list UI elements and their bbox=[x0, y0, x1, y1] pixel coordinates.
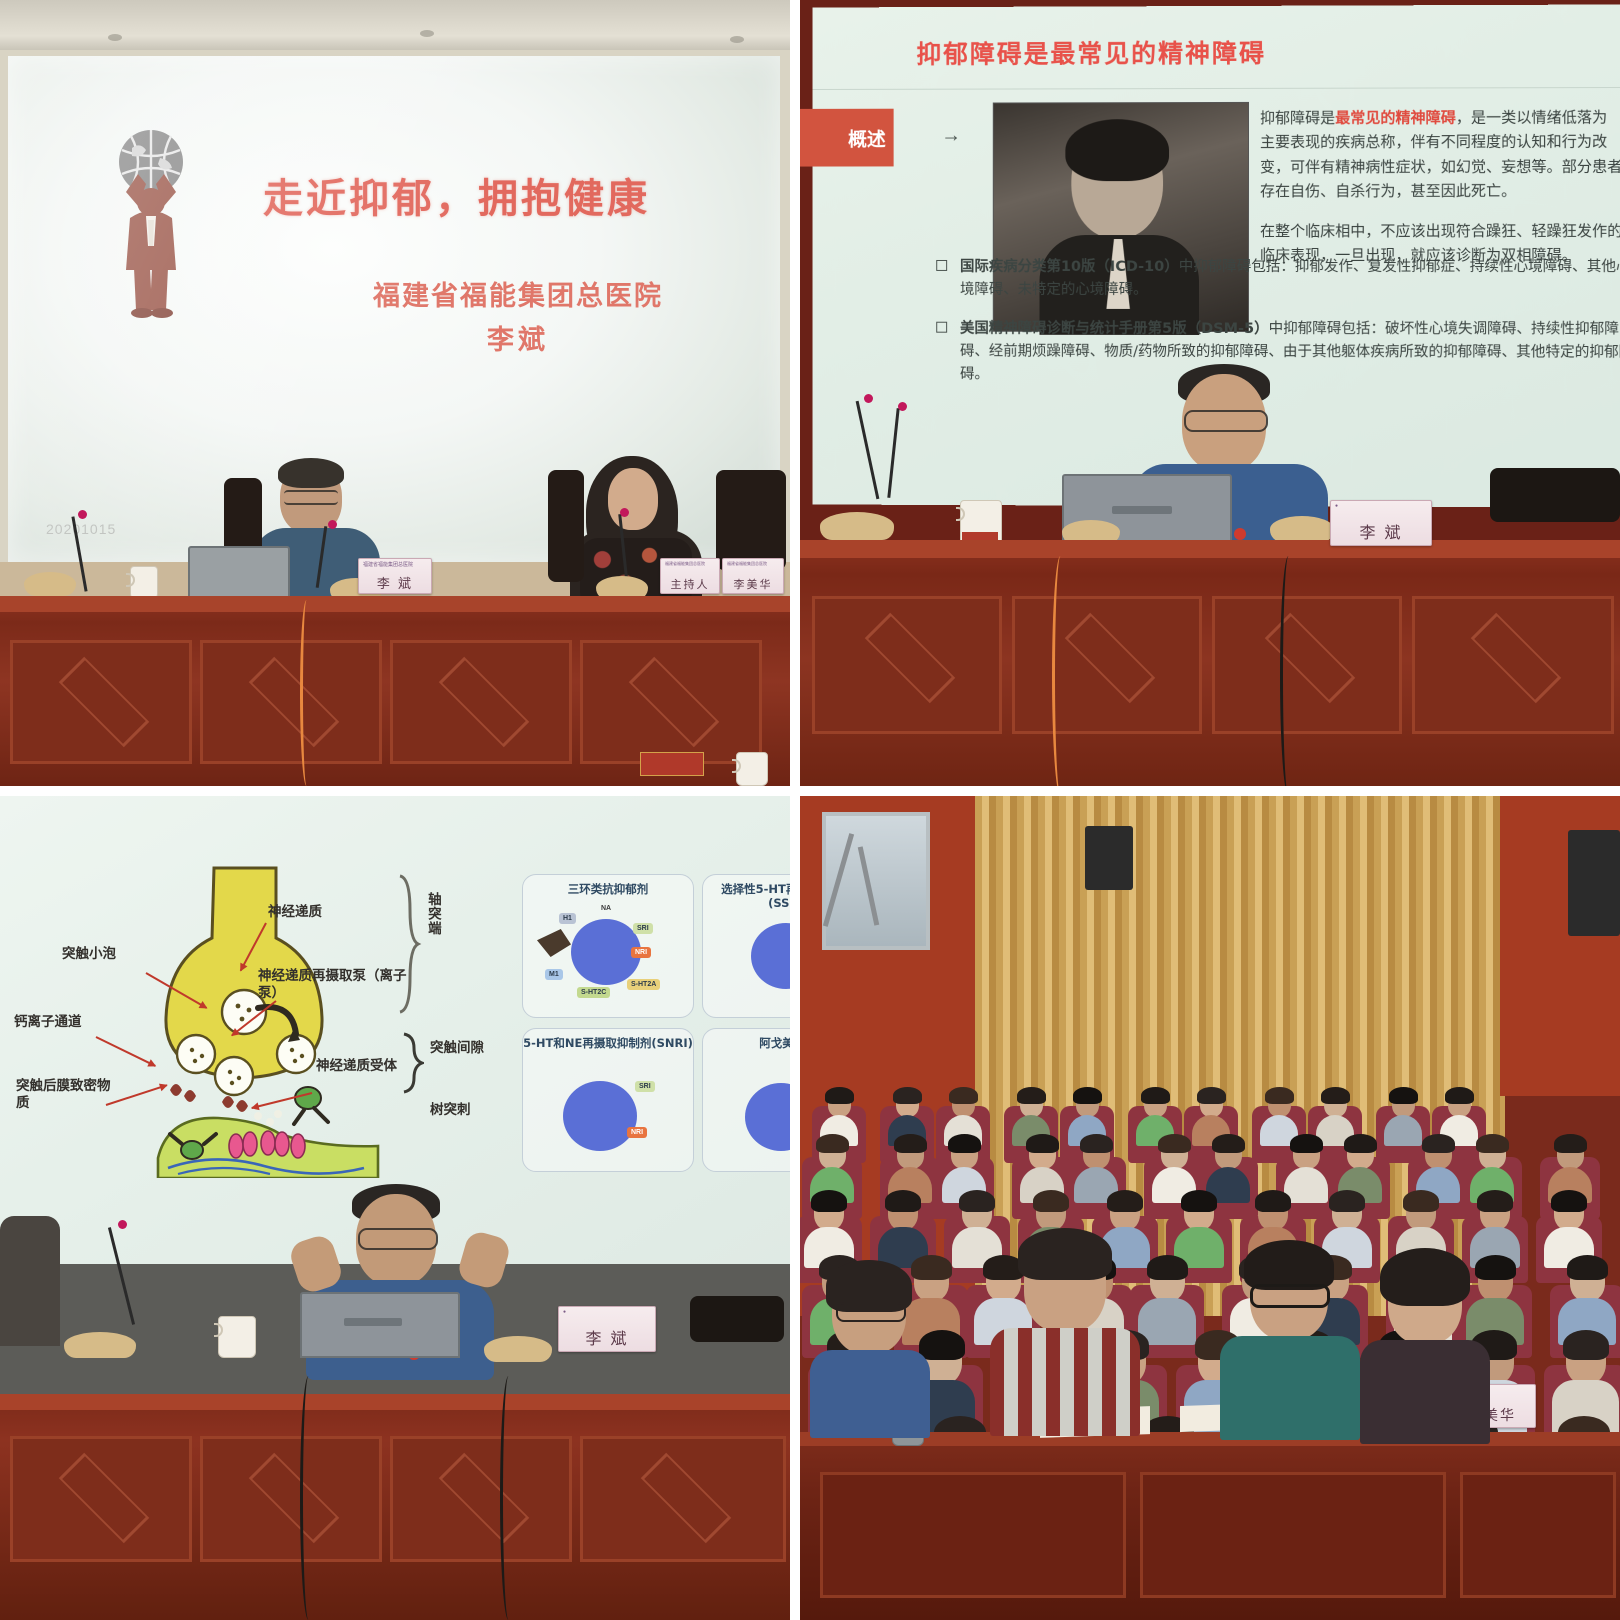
slide-title: 走近抑郁，拥抱健康 bbox=[263, 166, 773, 224]
microphone-base bbox=[24, 572, 76, 596]
microphone-head-icon bbox=[898, 402, 907, 411]
window bbox=[822, 812, 930, 950]
microphone-base bbox=[484, 1336, 552, 1362]
cable bbox=[300, 600, 313, 786]
nameplate: ● 李 斌 bbox=[558, 1306, 656, 1352]
drug-box-title: 5-HT和NE再摄取抑制剂(SNRI) bbox=[523, 1036, 693, 1050]
cable bbox=[300, 1376, 317, 1620]
nameplate-logo: ● bbox=[1335, 503, 1338, 509]
microphone-base bbox=[1270, 516, 1334, 542]
tag: S-HT2C bbox=[577, 987, 610, 998]
tag: NRI bbox=[627, 1127, 647, 1138]
tag: SRI bbox=[635, 1081, 655, 1092]
laptop-logo bbox=[344, 1318, 402, 1326]
nameplate-label: 李 斌 bbox=[559, 1325, 655, 1349]
table-edge bbox=[0, 596, 790, 612]
bullet-item: 国际疾病分类第10版（ICD-10）中抑郁障碍包括：抑郁发作、复发性抑郁症、持续… bbox=[936, 256, 1620, 302]
photo-collage: 走近抑郁，拥抱健康 福建省福能集团总医院 李斌 20201015 3 bbox=[0, 0, 1620, 1620]
drug-class-box: 三环类抗抑郁剂 H1 NA SRI NRI M1 S-HT2C S-HT2A bbox=[522, 874, 694, 1018]
table-panel bbox=[200, 1436, 382, 1562]
receptor-shape bbox=[537, 929, 571, 957]
synapse-label: 钙离子通道 bbox=[14, 1014, 82, 1031]
tea-cup bbox=[736, 752, 768, 786]
microphone-head-icon bbox=[620, 508, 629, 517]
nameplate-label: 李 斌 bbox=[359, 573, 431, 592]
desk-panel bbox=[1460, 1472, 1616, 1598]
table-panel bbox=[200, 640, 382, 764]
tag: M1 bbox=[545, 969, 563, 980]
badge bbox=[1234, 528, 1246, 540]
table-edge bbox=[800, 540, 1620, 558]
desk-panel bbox=[1140, 1472, 1446, 1598]
receptor-circle bbox=[745, 1083, 790, 1151]
nameplate-logo: ● bbox=[563, 1309, 566, 1315]
nameplate: 福建省福能集团总医院 李美华 bbox=[722, 558, 784, 594]
table-panel bbox=[390, 1436, 572, 1562]
nameplate: 福建省福能集团总医院 主持人 bbox=[660, 558, 720, 594]
panel-title-slide-and-head-table: 走近抑郁，拥抱健康 福建省福能集团总医院 李斌 20201015 3 bbox=[0, 0, 790, 786]
nameplate: ● 李 斌 bbox=[1330, 500, 1432, 546]
cable bbox=[500, 1376, 517, 1620]
bracket-label: 树突刺 bbox=[430, 1102, 471, 1119]
ceiling-light-icon bbox=[108, 34, 122, 41]
tea-cup bbox=[130, 566, 158, 600]
chair bbox=[548, 470, 584, 582]
receptor-circle bbox=[751, 923, 790, 989]
microphone-base bbox=[64, 1332, 136, 1358]
right-arrow-icon: → bbox=[941, 125, 961, 148]
panel-content-slide-and-speaker: 抑郁障碍是最常见的精神障碍 概述 → 抑郁障碍是最常见的精神障碍，是一类以情绪低… bbox=[800, 0, 1620, 786]
microphone-base bbox=[820, 512, 894, 540]
paragraph-1: 抑郁障碍是最常见的精神障碍，是一类以情绪低落为主要表现的疾病总称，伴有不同程度的… bbox=[1260, 105, 1620, 203]
slide-title: 抑郁障碍是最常见的精神障碍 bbox=[916, 34, 1266, 71]
tag: H1 bbox=[559, 913, 576, 924]
bracket-label: 突触间隙 bbox=[430, 1040, 490, 1058]
laptop-logo bbox=[1112, 506, 1172, 514]
head bbox=[608, 468, 658, 530]
microphone-head-icon bbox=[78, 510, 87, 519]
drug-class-box: 选择性5-HT再摄取抑制剂(SSRI) SRI bbox=[702, 874, 790, 1018]
synapse-label: 突触小泡 bbox=[62, 946, 116, 963]
nameplate-label: 主持人 bbox=[661, 576, 719, 592]
microphone-head-icon bbox=[328, 520, 337, 529]
audience-member bbox=[1138, 1260, 1196, 1348]
table-panel bbox=[1012, 596, 1202, 734]
tea-cup bbox=[218, 1316, 256, 1358]
bracket-label: 轴突端 bbox=[424, 892, 441, 936]
ceiling-light-icon bbox=[420, 30, 434, 37]
nameplate-logo: 福建省福能集团总医院 bbox=[665, 561, 705, 567]
ceiling-speaker bbox=[1568, 830, 1620, 936]
cable bbox=[1052, 556, 1069, 786]
tag: S-HT2A bbox=[627, 979, 660, 990]
audience-member bbox=[1360, 1256, 1490, 1442]
audience-member bbox=[1220, 1248, 1360, 1438]
slide-date-stamp: 20201015 bbox=[46, 521, 116, 537]
bracket-icon bbox=[396, 874, 422, 1014]
tag: SRI bbox=[633, 923, 653, 934]
microphone-head-icon bbox=[864, 394, 873, 403]
table-edge bbox=[0, 1394, 790, 1410]
glasses-icon bbox=[284, 490, 338, 505]
nameplate-label: 李 斌 bbox=[1331, 519, 1431, 543]
laptop[interactable] bbox=[188, 546, 290, 602]
hair bbox=[278, 458, 344, 488]
audience-member bbox=[810, 1266, 930, 1436]
tag: NA bbox=[597, 903, 615, 914]
synapse-label: 突触后膜致密物质 bbox=[16, 1078, 116, 1112]
table-panel bbox=[10, 640, 192, 764]
glasses-icon bbox=[1184, 410, 1268, 432]
chair bbox=[1490, 468, 1620, 522]
decor-object bbox=[0, 1216, 60, 1346]
table-panel bbox=[1212, 596, 1402, 734]
drug-class-box: 5-HT和NE再摄取抑制剂(SNRI) SRI NRI bbox=[522, 1028, 694, 1172]
tag: NRI bbox=[631, 947, 651, 958]
drug-box-title: 三环类抗抑郁剂 bbox=[523, 882, 693, 896]
table-panel bbox=[812, 596, 1002, 734]
nameplate-label: 李美华 bbox=[723, 576, 783, 592]
table-panel bbox=[10, 1436, 192, 1562]
synapse-label: 神经递质再摄取泵（离子泵） bbox=[258, 968, 418, 1002]
nameplate-logo: 福建省福能集团总医院 bbox=[363, 561, 413, 568]
audience-member bbox=[990, 1236, 1140, 1436]
desk-panel bbox=[820, 1472, 1126, 1598]
panel-synapse-slide-and-speaker: 突触小泡 神经递质 神经递质再摄取泵（离子泵） 钙离子通道 突触后膜致密物质 神… bbox=[0, 796, 790, 1620]
nameplate: 福建省福能集团总医院 李 斌 bbox=[358, 558, 432, 594]
chair bbox=[716, 470, 786, 570]
slide-presenter: 李斌 bbox=[308, 318, 728, 357]
drug-box-title: 阿戈美拉汀 bbox=[703, 1036, 790, 1050]
logo-plaque bbox=[640, 752, 704, 776]
nameplate-logo: 福建省福能集团总医院 bbox=[727, 561, 767, 567]
section-tag: 概述 bbox=[800, 109, 894, 167]
table-panel bbox=[580, 640, 762, 764]
ceiling-speaker bbox=[1085, 826, 1133, 890]
panel-audience: ● 李美华 bbox=[800, 796, 1620, 1620]
table-panel bbox=[390, 640, 572, 764]
drug-class-box: 阿戈美拉汀 5-HT2C bbox=[702, 1028, 790, 1172]
person-holding-globe-icon bbox=[86, 128, 216, 318]
glasses-icon bbox=[358, 1228, 438, 1250]
cable bbox=[1280, 556, 1297, 786]
bracket-icon bbox=[400, 1032, 424, 1094]
receptor-circle bbox=[563, 1081, 637, 1151]
synapse-label: 神经递质受体 bbox=[316, 1058, 400, 1075]
slide-organization: 福建省福能集团总医院 bbox=[308, 274, 728, 313]
ceiling-light-icon bbox=[730, 36, 744, 43]
table-panel bbox=[580, 1436, 786, 1562]
synapse-label: 神经递质 bbox=[268, 904, 322, 921]
drug-box-title: 选择性5-HT再摄取抑制剂(SSRI) bbox=[703, 882, 790, 911]
table-panel bbox=[1412, 596, 1614, 734]
divider bbox=[813, 87, 1620, 90]
microphone-head-icon bbox=[118, 1220, 127, 1229]
chair bbox=[690, 1296, 784, 1342]
